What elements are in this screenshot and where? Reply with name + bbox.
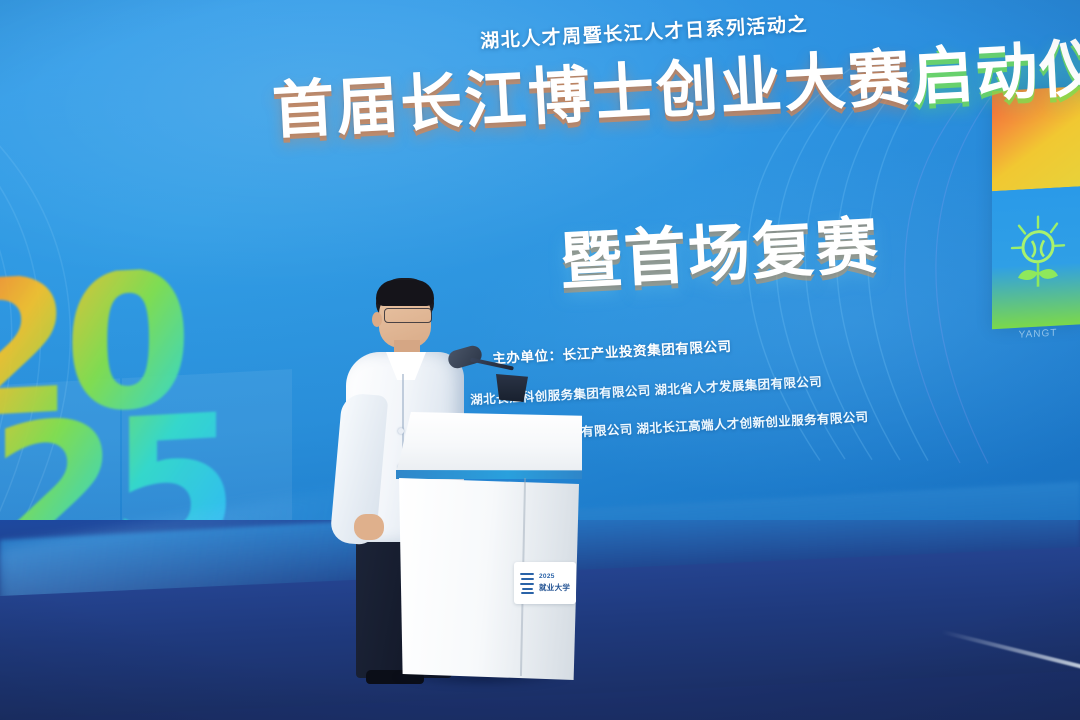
- microphone-head-icon: [446, 344, 484, 371]
- podium-logo-plate: 2025 就业大学: [514, 562, 576, 604]
- speaker-ear: [372, 312, 382, 327]
- microphone-base: [496, 374, 528, 402]
- screen-poster-tile: YANGT: [992, 86, 1080, 329]
- poster-bottom-panel: [992, 186, 1080, 329]
- podium-accent-stripe: [396, 470, 582, 479]
- microphone-stem: [470, 357, 514, 370]
- glasses-icon: [384, 308, 432, 323]
- podium-logo-line-1: 2025: [539, 573, 570, 580]
- wave-lines-mark-icon: [519, 570, 536, 596]
- podium-logo-line-2: 就业大学: [539, 582, 570, 593]
- microphone: [448, 348, 532, 414]
- title-line-1-accent: 启动仪式: [910, 31, 1080, 113]
- speaker-hair-top: [376, 280, 434, 306]
- sprout-icon: [1010, 213, 1066, 294]
- podium-top: [396, 412, 582, 474]
- speaker-hand: [354, 514, 384, 540]
- podium-logo-text: 2025 就业大学: [539, 573, 570, 593]
- stage-photo: 2025: [0, 0, 1080, 720]
- podium: 2025 就业大学: [396, 412, 582, 680]
